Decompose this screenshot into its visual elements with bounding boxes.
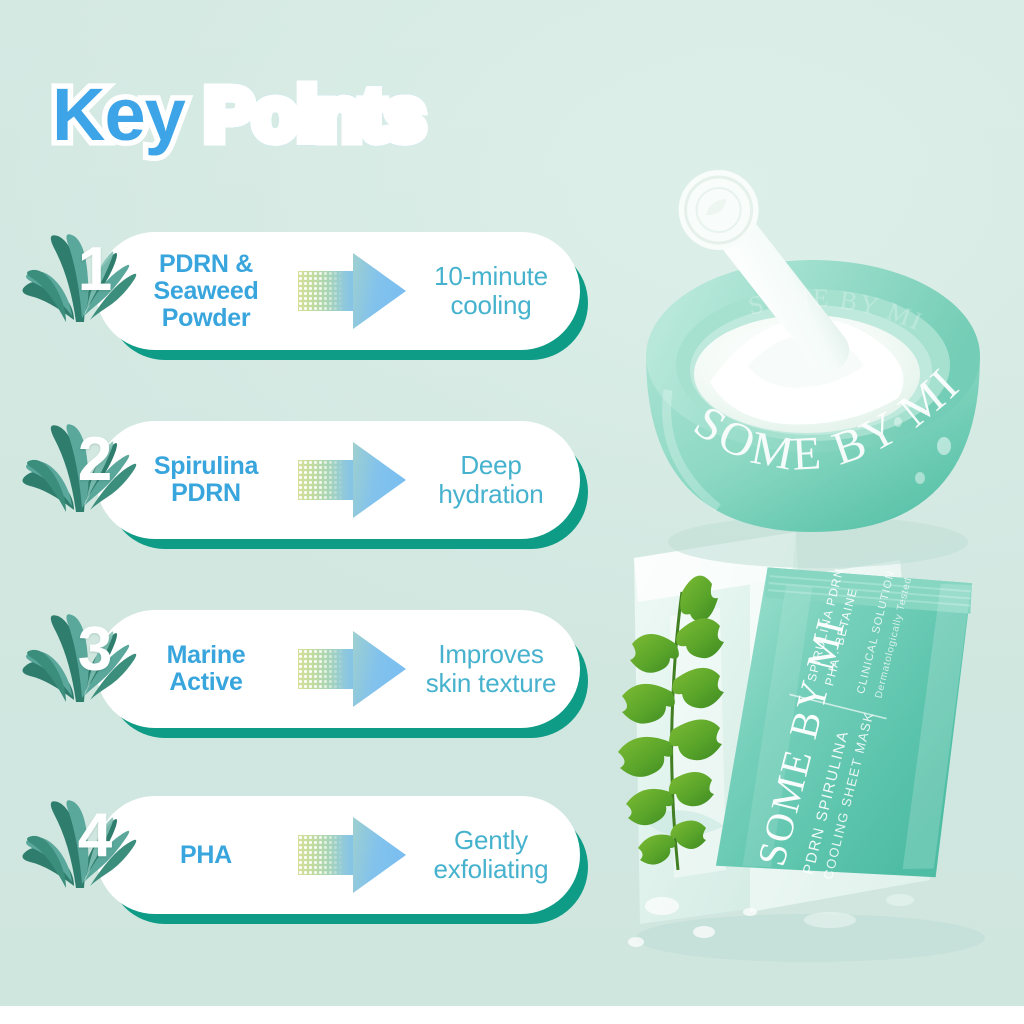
bottom-white-strip xyxy=(0,1006,1024,1024)
key-point-ingredient-3: Marine Active xyxy=(118,642,294,696)
key-point-ingredient-1: PDRN & Seaweed Powder xyxy=(118,251,294,332)
key-point-card-1[interactable]: PDRN & Seaweed Powder 10-minute cooling xyxy=(96,232,580,350)
arrow-icon xyxy=(298,816,408,894)
arrow-icon xyxy=(298,630,408,708)
product-jar-image: SOME BY MI SOME BY MI xyxy=(598,160,1024,590)
key-point-benefit-1: 10-minute cooling xyxy=(412,262,580,320)
marketing-infographic: SOME BY MI SOME BY MI xyxy=(0,0,1024,1024)
key-point-benefit-2: Deep hydration xyxy=(412,451,580,509)
water-droplets-image xyxy=(600,860,1020,980)
key-point-card-2[interactable]: Spirulina PDRN Deep hydration xyxy=(96,421,580,539)
page-title-part-2: Points xyxy=(204,78,424,152)
page-title: Key Points xyxy=(52,78,424,152)
page-title-part-1: Key xyxy=(52,78,185,152)
arrow-icon xyxy=(298,441,408,519)
key-point-benefit-4: Gently exfoliating xyxy=(412,826,580,884)
key-point-card-4[interactable]: PHA Gently exfoliating xyxy=(96,796,580,914)
leaf-sprig-image xyxy=(560,540,790,900)
key-point-benefit-3: Improves skin texture xyxy=(412,640,580,698)
arrow-icon xyxy=(298,252,408,330)
key-point-ingredient-2: Spirulina PDRN xyxy=(118,453,294,507)
key-point-card-3[interactable]: Marine Active Improves skin texture xyxy=(96,610,580,728)
key-point-ingredient-4: PHA xyxy=(118,842,294,869)
